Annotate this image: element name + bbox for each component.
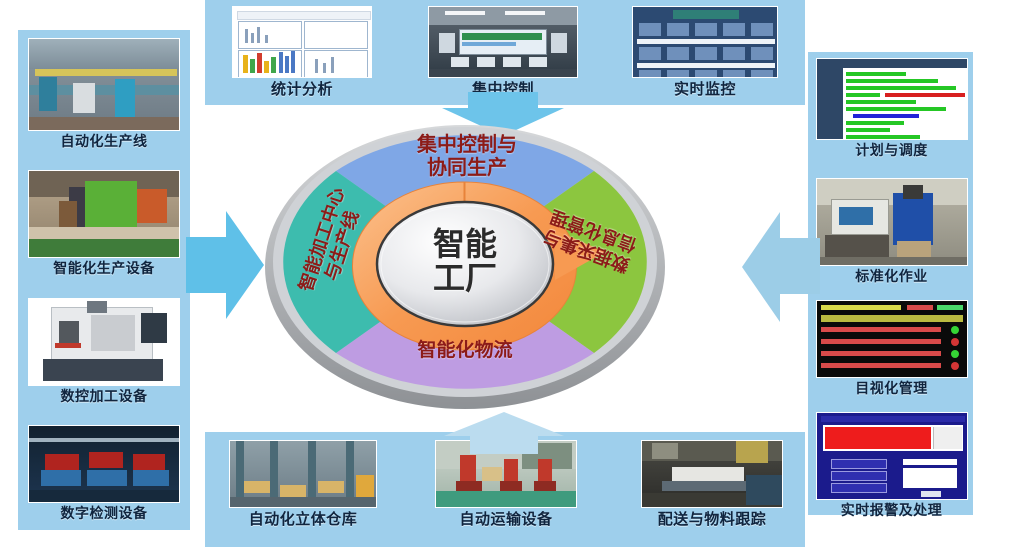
- card-label: 统计分析: [271, 82, 333, 99]
- card-planning-scheduling[interactable]: 计划与调度: [814, 58, 969, 158]
- thumbnail-material-tracking: [641, 440, 783, 508]
- card-automated-warehouse[interactable]: 自动化立体仓库: [228, 440, 378, 529]
- thumbnail-control-room: [428, 6, 578, 78]
- card-standardized-operation[interactable]: 标准化作业: [814, 178, 969, 284]
- card-label: 数控加工设备: [61, 389, 148, 404]
- thumbnail-gantt-chart: [816, 58, 968, 140]
- thumbnail-asrs-warehouse: [229, 440, 377, 508]
- segment-label-bottom: 智能化物流: [365, 340, 565, 362]
- card-label: 自动化生产线: [61, 134, 148, 149]
- card-digital-inspection-equipment[interactable]: 数字检测设备: [26, 425, 182, 521]
- segment-label-top: 集中控制与 协同生产: [347, 134, 587, 180]
- center-title: 智能 工厂: [377, 228, 553, 295]
- card-label: 标准化作业: [855, 269, 928, 284]
- card-intelligent-production-equipment[interactable]: 智能化生产设备: [26, 170, 182, 276]
- arrow-bottom-to-center: [444, 412, 564, 454]
- arrow-right-to-center: [742, 208, 820, 326]
- card-label: 实时报警及处理: [841, 503, 943, 518]
- card-label: 配送与物料跟踪: [658, 512, 767, 529]
- card-statistical-analysis[interactable]: 统计分析: [232, 6, 372, 99]
- card-label: 自动化立体仓库: [249, 512, 358, 529]
- thumbnail-cnc-machine: [28, 298, 180, 386]
- thumbnail-dashboard-charts: [232, 6, 372, 78]
- arrow-left-to-center: [186, 205, 264, 325]
- thumbnail-worker-station: [816, 178, 968, 266]
- card-label: 计划与调度: [855, 143, 928, 158]
- thumbnail-inspection-rig: [28, 425, 180, 503]
- card-label: 目视化管理: [855, 381, 928, 396]
- card-cnc-machining-equipment[interactable]: 数控加工设备: [26, 298, 182, 404]
- thumbnail-alarm-screen: [816, 412, 968, 500]
- infographic-canvas: 自动化生产线 智能化生产设备 数控加工设备: [0, 0, 1024, 547]
- card-delivery-material-tracking[interactable]: 配送与物料跟踪: [638, 440, 786, 529]
- card-visual-management[interactable]: 目视化管理: [814, 300, 969, 396]
- card-label: 自动运输设备: [459, 512, 552, 529]
- card-automated-production-line[interactable]: 自动化生产线: [26, 38, 182, 149]
- thumbnail-andon-board: [816, 300, 968, 378]
- smart-factory-donut: 集中控制与 协同生产 数据采集与 信息化管理 智能化物流 智能加工中心 与生产线…: [255, 112, 675, 417]
- thumbnail-robot-welder: [28, 170, 180, 258]
- card-label: 数字检测设备: [61, 506, 148, 521]
- card-realtime-monitoring[interactable]: 实时监控: [632, 6, 778, 99]
- card-centralized-control[interactable]: 集中控制: [428, 6, 578, 99]
- thumbnail-monitor-grid: [632, 6, 778, 78]
- card-realtime-alarm-handling[interactable]: 实时报警及处理: [814, 412, 969, 518]
- card-label: 实时监控: [674, 82, 736, 99]
- card-label: 智能化生产设备: [53, 261, 155, 276]
- thumbnail-production-line: [28, 38, 180, 131]
